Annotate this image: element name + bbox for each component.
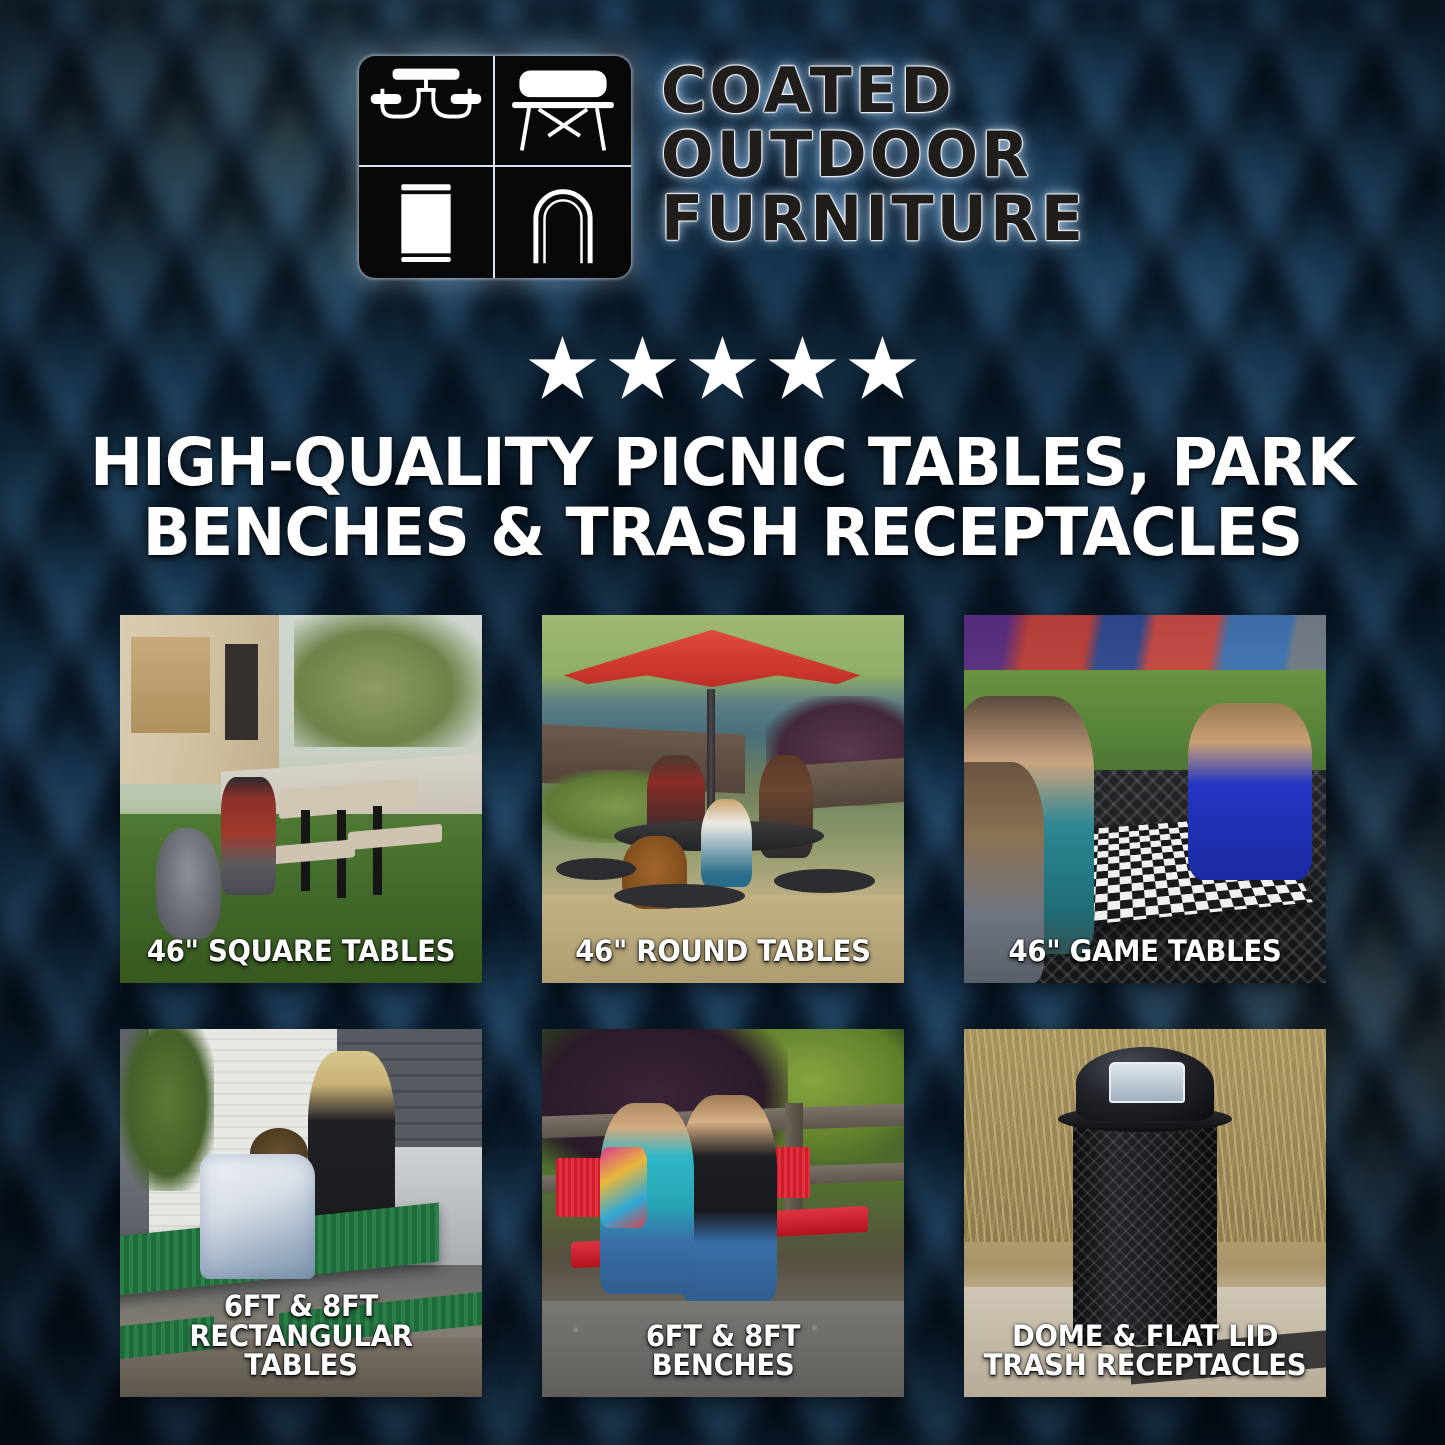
product-grid: 46" SQUARE TABLES xyxy=(120,615,1326,1397)
brand-line-1: COATED xyxy=(661,60,1086,122)
product-tile-square-tables[interactable]: 46" SQUARE TABLES xyxy=(120,615,482,983)
caption-line: RECTANGULAR TABLES xyxy=(135,1322,468,1381)
bike-rack-arch-icon xyxy=(495,167,631,278)
product-caption-round-tables: 46" ROUND TABLES xyxy=(557,937,890,967)
star-icon-2 xyxy=(609,336,677,402)
headline-line-2: BENCHES & TRASH RECEPTACLES xyxy=(87,498,1359,568)
promotional-poster: COATED OUTDOOR FURNITURE HIGH-QUALITY PI… xyxy=(0,0,1445,1445)
caption-line: TRASH RECEPTACLES xyxy=(979,1351,1312,1381)
product-tile-benches[interactable]: 6FT & 8FT BENCHES xyxy=(542,1029,904,1397)
product-caption-rectangular-tables: 6FT & 8FT RECTANGULAR TABLES xyxy=(135,1292,468,1381)
caption-line: 6FT & 8FT xyxy=(135,1292,468,1322)
product-tile-round-tables[interactable]: 46" ROUND TABLES xyxy=(542,615,904,983)
star-icon-1 xyxy=(529,336,597,402)
bench-table-profile-icon xyxy=(495,56,631,167)
caption-line: 46" GAME TABLES xyxy=(979,937,1312,967)
picnic-table-icon xyxy=(359,56,495,167)
product-photo-game-tables xyxy=(964,615,1326,983)
caption-line: 46" SQUARE TABLES xyxy=(135,937,468,967)
brand-line-3: FURNITURE xyxy=(661,188,1086,250)
headline-line-1: HIGH-QUALITY PICNIC TABLES, PARK xyxy=(87,428,1359,498)
brand-logo: COATED OUTDOOR FURNITURE xyxy=(0,56,1445,278)
star-icon-4 xyxy=(769,336,837,402)
star-rating xyxy=(0,336,1445,402)
product-tile-trash-receptacles[interactable]: DOME & FLAT LID TRASH RECEPTACLES xyxy=(964,1029,1326,1397)
product-photo-square-tables xyxy=(120,615,482,983)
caption-line: DOME & FLAT LID xyxy=(979,1322,1312,1352)
product-tile-rectangular-tables[interactable]: 6FT & 8FT RECTANGULAR TABLES xyxy=(120,1029,482,1397)
brand-line-2: OUTDOOR xyxy=(661,124,1086,186)
star-icon-3 xyxy=(689,336,757,402)
product-caption-square-tables: 46" SQUARE TABLES xyxy=(135,937,468,967)
caption-line: BENCHES xyxy=(557,1351,890,1381)
caption-line: 6FT & 8FT xyxy=(557,1322,890,1352)
product-caption-trash-receptacles: DOME & FLAT LID TRASH RECEPTACLES xyxy=(979,1322,1312,1381)
product-caption-benches: 6FT & 8FT BENCHES xyxy=(557,1322,890,1381)
brand-wordmark: COATED OUTDOOR FURNITURE xyxy=(661,56,1086,250)
product-tile-game-tables[interactable]: 46" GAME TABLES xyxy=(964,615,1326,983)
headline: HIGH-QUALITY PICNIC TABLES, PARK BENCHES… xyxy=(87,428,1359,568)
product-photo-round-tables xyxy=(542,615,904,983)
star-icon-5 xyxy=(849,336,917,402)
logo-icon-grid xyxy=(359,56,631,278)
caption-line: 46" ROUND TABLES xyxy=(557,937,890,967)
trash-receptacle-icon xyxy=(359,167,495,278)
product-caption-game-tables: 46" GAME TABLES xyxy=(979,937,1312,967)
